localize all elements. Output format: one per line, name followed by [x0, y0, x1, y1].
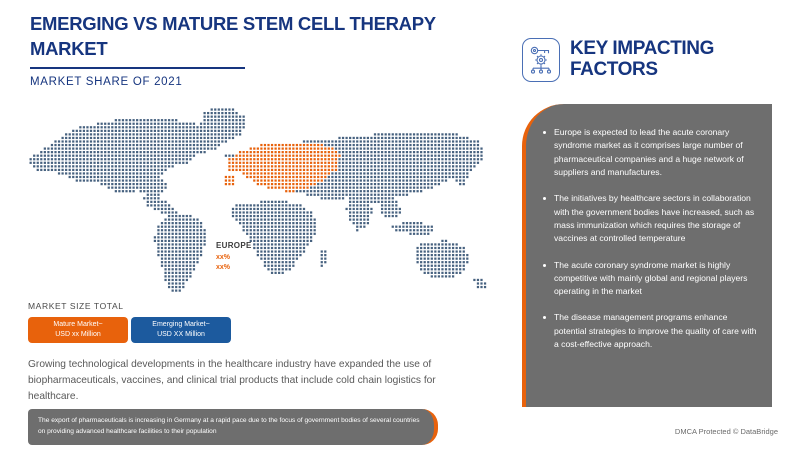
region-value-1: xx% [216, 254, 286, 261]
key-network-icon [522, 38, 560, 82]
key-factors-panel: Europe is expected to lead the acute cor… [522, 104, 772, 407]
list-item: Europe is expected to lead the acute cor… [543, 126, 757, 179]
footer-credit: DMCA Protected © DataBridge [675, 427, 778, 436]
legend-chip-mature-line1: Mature Market~ [53, 320, 102, 330]
legend-title: MARKET SIZE TOTAL [28, 301, 124, 311]
page-title: EMERGING VS MATURE STEM CELL THERAPY MAR… [30, 12, 450, 62]
callout-text: The export of pharmaceuticals is increas… [28, 416, 434, 437]
map-dots-europe-highlight [225, 144, 341, 192]
left-column: EMERGING VS MATURE STEM CELL THERAPY MAR… [0, 0, 500, 450]
list-item: The acute coronary syndrome market is hi… [543, 259, 757, 299]
infographic-page: EMERGING VS MATURE STEM CELL THERAPY MAR… [0, 0, 800, 450]
key-factors-title: KEY IMPACTING FACTORS [570, 39, 800, 80]
page-subtitle: MARKET SHARE OF 2021 [30, 76, 470, 88]
list-item: The initiatives by healthcare sectors in… [543, 192, 757, 245]
list-item: The disease management programs enhance … [543, 311, 757, 351]
right-column: KEY IMPACTING FACTORS Europe is expected… [500, 0, 800, 450]
world-map: EUROPE xx% xx% [18, 98, 488, 296]
region-value-2: xx% [216, 264, 286, 271]
legend-chip-emerging-line2: USD XX Million [157, 330, 205, 340]
legend-chip-mature-market[interactable]: Mature Market~ USD xx Million [28, 317, 128, 343]
key-factors-header: KEY IMPACTING FACTORS [522, 38, 800, 82]
title-block: EMERGING VS MATURE STEM CELL THERAPY MAR… [30, 12, 470, 88]
callout-box: The export of pharmaceuticals is increas… [28, 409, 438, 445]
legend-chip-mature-line2: USD xx Million [55, 330, 101, 340]
legend-chip-emerging-line1: Emerging Market~ [152, 320, 209, 330]
legend-chip-emerging-market[interactable]: Emerging Market~ USD XX Million [131, 317, 231, 343]
map-region-label: EUROPE xx% xx% [216, 242, 286, 271]
title-underline [30, 67, 245, 69]
key-factors-list: Europe is expected to lead the acute cor… [526, 104, 772, 351]
region-name: EUROPE [216, 242, 286, 250]
body-paragraph: Growing technological developments in th… [28, 357, 448, 404]
